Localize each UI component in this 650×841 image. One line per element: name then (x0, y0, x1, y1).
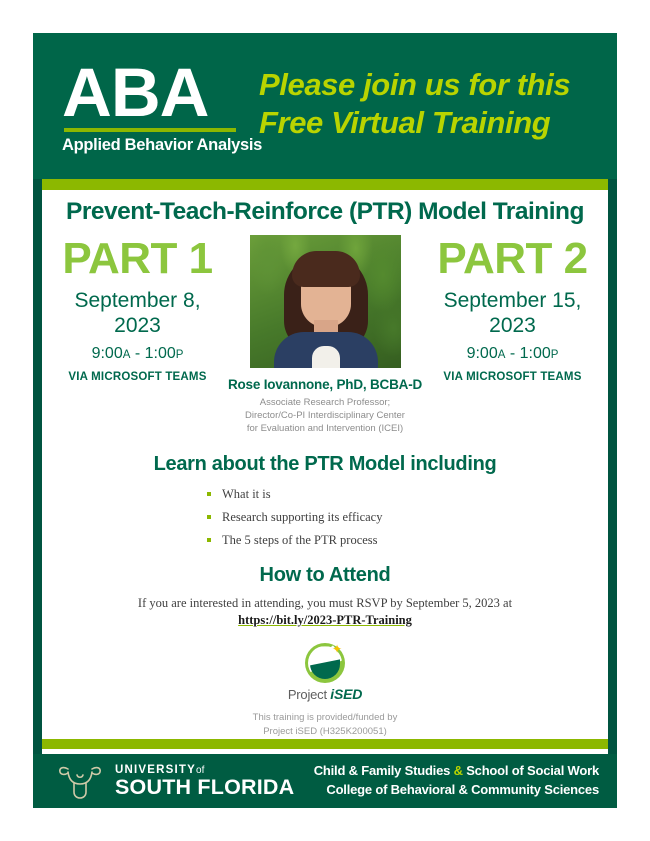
flyer-page: ABA Applied Behavior Analysis Please joi… (0, 0, 650, 841)
department-line-1: Child & Family Studies & School of Socia… (314, 762, 599, 781)
part-2-time: 9:00A - 1:00P (425, 345, 600, 363)
photo-shirt (312, 346, 340, 368)
footer-band: UNIVERSITYof SOUTH FLORIDA Child & Famil… (33, 754, 617, 808)
part-2-time-start: 9:00 (467, 345, 498, 362)
part-2-date: September 15, 2023 (425, 288, 600, 338)
attend-instruction: If you are interested in attending, you … (42, 596, 608, 611)
list-item-label: What it is (222, 487, 271, 502)
funding-line-2: Project iSED (H325K200051) (42, 725, 608, 739)
sponsor-name-light: Project (288, 687, 330, 702)
part-2-platform: VIA MICROSOFT TEAMS (425, 371, 600, 383)
project-ised-logo-icon: ✦ (305, 643, 345, 683)
accent-bar-bottom (42, 739, 608, 749)
department-line-1-part-a: Child & Family Studies (314, 763, 454, 778)
department-line-2: College of Behavioral & Community Scienc… (314, 781, 599, 800)
part-2-label: PART 2 (425, 237, 600, 281)
presenter-name: Rose Iovannone, PhD, BCBA-D (228, 377, 423, 392)
usf-bull-logo-icon (57, 762, 103, 800)
usf-south-florida: SOUTH FLORIDA (115, 776, 294, 799)
part-1-time-dash: - (130, 345, 144, 362)
part-2-time-dash: - (505, 345, 519, 362)
list-item: What it is (207, 487, 443, 502)
list-item-label: The 5 steps of the PTR process (222, 533, 378, 548)
usf-of-word: of (196, 765, 204, 776)
department-line-1-part-b: School of Social Work (463, 763, 599, 778)
bullet-icon (207, 538, 211, 542)
aba-logo-subtitle: Applied Behavior Analysis (62, 136, 251, 155)
page-title: Prevent-Teach-Reinforce (PTR) Model Trai… (42, 198, 608, 226)
presenter-title: Associate Research Professor; Director/C… (228, 396, 423, 435)
aba-logo-word: ABA (62, 61, 251, 124)
presenter-photo (250, 235, 401, 368)
usf-branding: UNIVERSITYof SOUTH FLORIDA (57, 762, 294, 800)
attend-heading: How to Attend (42, 564, 608, 587)
part-1-label: PART 1 (50, 237, 225, 281)
part-1-time-end-ampm: P (176, 349, 184, 361)
funding-note: This training is provided/funded by Proj… (42, 711, 608, 739)
part-1-time-end: 1:00 (145, 345, 176, 362)
bullet-icon (207, 492, 211, 496)
usf-wordmark: UNIVERSITYof SOUTH FLORIDA (115, 763, 294, 799)
department-ampersand: & (454, 763, 463, 778)
presenter-block: Rose Iovannone, PhD, BCBA-D Associate Re… (228, 235, 423, 435)
usf-university-word: UNIVERSITY (115, 764, 196, 776)
sessions-row: PART 1 September 8, 2023 9:00A - 1:00P V… (42, 235, 608, 435)
sponsor-name: Project iSED (42, 686, 608, 702)
sponsor-name-bold: iSED (330, 686, 362, 702)
list-item: The 5 steps of the PTR process (207, 533, 443, 548)
bullet-icon (207, 515, 211, 519)
accent-bar-top (42, 179, 608, 190)
main-content: Prevent-Teach-Reinforce (PTR) Model Trai… (42, 198, 608, 739)
headline-line-2: Free Virtual Training (259, 104, 617, 142)
presenter-title-line-3: for Evaluation and Intervention (ICEI) (228, 422, 423, 435)
part-1-date: September 8, 2023 (50, 288, 225, 338)
list-item: Research supporting its efficacy (207, 510, 443, 525)
part-1-time: 9:00A - 1:00P (50, 345, 225, 363)
headline: Please join us for this Free Virtual Tra… (251, 66, 617, 146)
part-2-time-end-ampm: P (551, 349, 559, 361)
headline-line-1: Please join us for this (259, 66, 617, 104)
photo-hair-top (292, 251, 360, 287)
part-1-platform: VIA MICROSOFT TEAMS (50, 371, 225, 383)
header-band: ABA Applied Behavior Analysis Please joi… (33, 33, 617, 179)
part-1-time-start: 9:00 (92, 345, 123, 362)
learn-bullet-list: What it is Research supporting its effic… (207, 487, 443, 548)
star-icon: ✦ (332, 643, 342, 655)
presenter-title-line-2: Director/Co-PI Interdisciplinary Center (228, 409, 423, 422)
learn-heading: Learn about the PTR Model including (42, 453, 608, 476)
rsvp-link[interactable]: https://bit.ly/2023-PTR-Training (42, 613, 608, 628)
list-item-label: Research supporting its efficacy (222, 510, 382, 525)
part-2-time-end: 1:00 (520, 345, 551, 362)
session-part-1: PART 1 September 8, 2023 9:00A - 1:00P V… (50, 235, 225, 383)
department-info: Child & Family Studies & School of Socia… (314, 762, 599, 801)
presenter-title-line-1: Associate Research Professor; (228, 396, 423, 409)
aba-logo: ABA Applied Behavior Analysis (33, 57, 251, 154)
sponsor-block: ✦ Project iSED This training is provided… (42, 643, 608, 739)
funding-line-1: This training is provided/funded by (42, 711, 608, 725)
session-part-2: PART 2 September 15, 2023 9:00A - 1:00P … (425, 235, 600, 383)
